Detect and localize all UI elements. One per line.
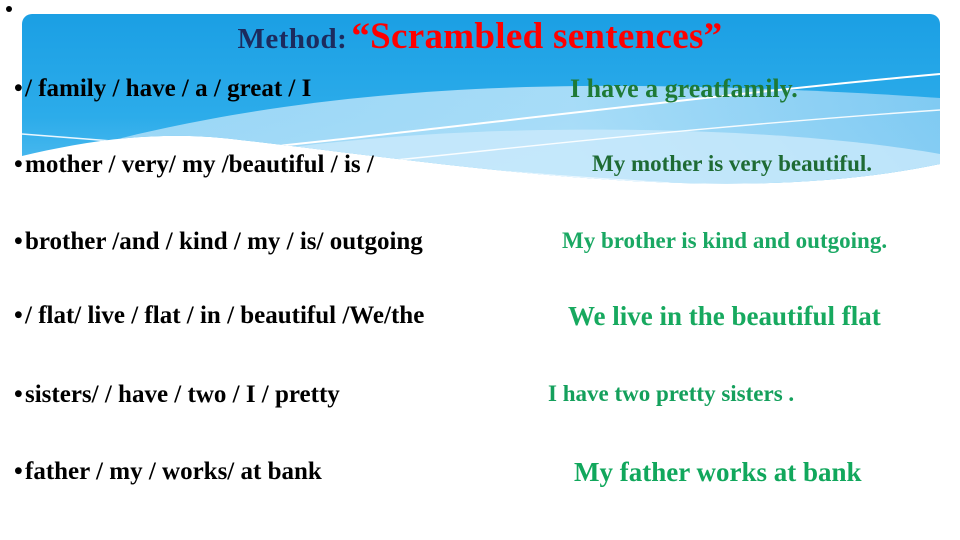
answer-sentence: I have two pretty sisters . [548, 382, 794, 405]
scrambled-sentence: •mother / very/ my /beautiful / is / [14, 152, 374, 177]
scrambled-text: / flat/ live / flat / in / beautiful /We… [25, 302, 424, 329]
bullet-icon: • [14, 229, 25, 254]
scrambled-text: sisters/ / have / two / I / pretty [25, 381, 340, 408]
scrambled-sentence: •brother /and / kind / my / is/ outgoing [14, 229, 423, 254]
scrambled-text: / family / have / a / great / I [25, 75, 311, 102]
bullet-icon: • [14, 152, 25, 177]
bullet-icon: • [14, 459, 25, 484]
scrambled-text: mother / very/ my /beautiful / is / [25, 151, 374, 178]
stray-bullet-icon [6, 6, 12, 12]
scrambled-sentence: •sisters/ / have / two / I / pretty [14, 382, 340, 407]
slide-canvas: Method: “Scrambled sentences” •/ family … [0, 0, 960, 540]
scrambled-sentence: •/ family / have / a / great / I [14, 76, 311, 101]
bullet-icon: • [14, 303, 25, 328]
bullet-icon: • [14, 76, 25, 101]
answer-sentence: My brother is kind and outgoing. [562, 229, 887, 252]
answer-sentence: We live in the beautiful flat [568, 303, 881, 330]
bullet-icon: • [14, 382, 25, 407]
answer-sentence: I have a greatfamily. [570, 76, 798, 102]
answer-sentence: My mother is very beautiful. [592, 152, 872, 175]
scrambled-sentence: •father / my / works/ at bank [14, 459, 322, 484]
answer-sentence: My father works at bank [574, 459, 862, 486]
page-title: Method: “Scrambled sentences” [0, 18, 960, 55]
title-method-value: “Scrambled sentences” [351, 16, 722, 57]
scrambled-sentence: •/ flat/ live / flat / in / beautiful /W… [14, 303, 424, 328]
title-method-label: Method: [238, 23, 348, 55]
scrambled-text: brother /and / kind / my / is/ outgoing [25, 228, 423, 255]
scrambled-text: father / my / works/ at bank [25, 458, 322, 485]
